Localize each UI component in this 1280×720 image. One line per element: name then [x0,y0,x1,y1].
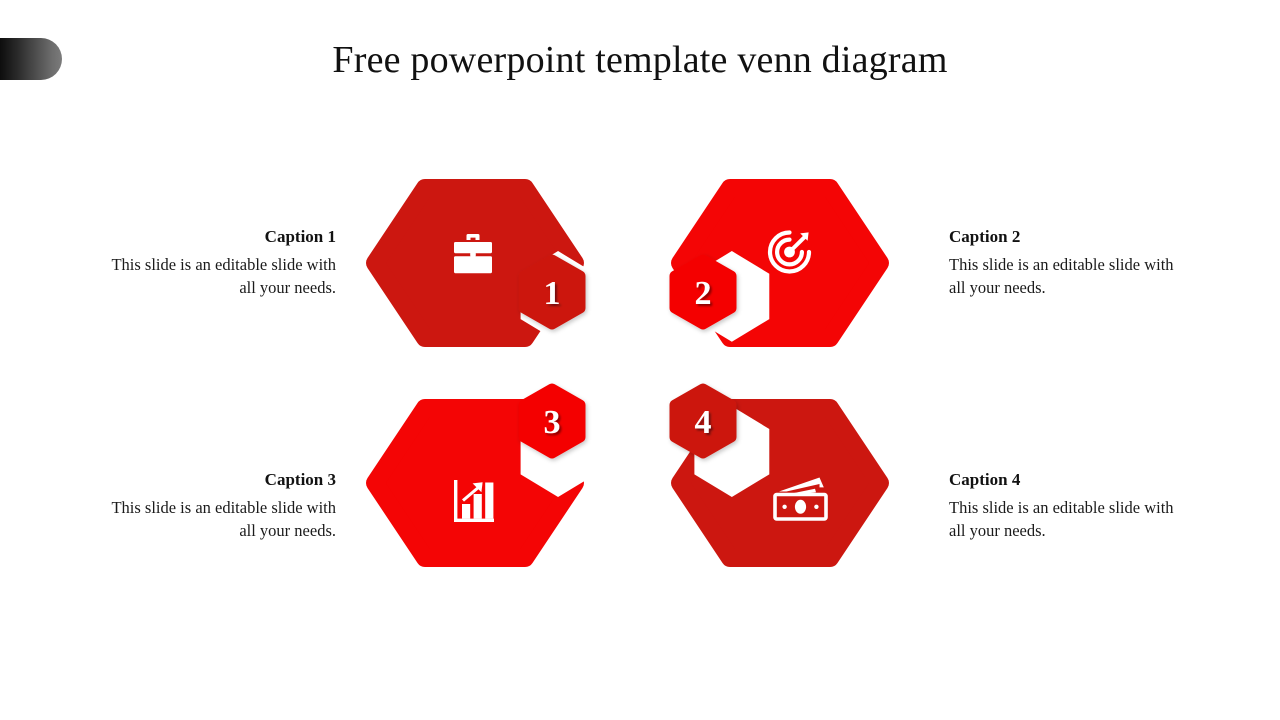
badge-number-4: 4 [695,404,712,441]
caption-body-3: This slide is an editable slide with all… [104,496,336,542]
caption-body-2: This slide is an editable slide with all… [949,253,1181,299]
caption-block-2: Caption 2 This slide is an editable slid… [949,226,1181,299]
caption-title-4: Caption 4 [949,469,1181,491]
caption-body-line1-2: This slide is an editable slide [949,255,1140,274]
hex-badge-1[interactable]: 1 [524,260,580,324]
caption-title-2: Caption 2 [949,226,1181,248]
hex-badge-2[interactable]: 2 [675,260,731,324]
caption-title-3: Caption 3 [104,469,336,491]
caption-title-1: Caption 1 [104,226,336,248]
badge-number-3: 3 [544,404,561,441]
hex-badge-4[interactable]: 4 [675,389,731,453]
badge-number-1: 1 [544,275,561,312]
caption-block-4: Caption 4 This slide is an editable slid… [949,469,1181,542]
page-title: Free powerpoint template venn diagram [0,36,1280,84]
target-arrow-icon [770,232,809,271]
caption-body-line1-1: This slide is an editable slide [111,255,302,274]
hex-badge-3[interactable]: 3 [524,389,580,453]
caption-body-line1-4: This slide is an editable slide [949,498,1140,517]
caption-body-1: This slide is an editable slide with all… [104,253,336,299]
caption-block-3: Caption 3 This slide is an editable slid… [104,469,336,542]
venn-hexagon-diagram: 1 2 3 4 [350,150,930,610]
caption-body-line1-3: This slide is an editable slide [111,498,302,517]
slide-canvas: Free powerpoint template venn diagram [0,0,1280,720]
badge-number-2: 2 [695,275,712,312]
caption-block-1: Caption 1 This slide is an editable slid… [104,226,336,299]
caption-body-4: This slide is an editable slide with all… [949,496,1181,542]
